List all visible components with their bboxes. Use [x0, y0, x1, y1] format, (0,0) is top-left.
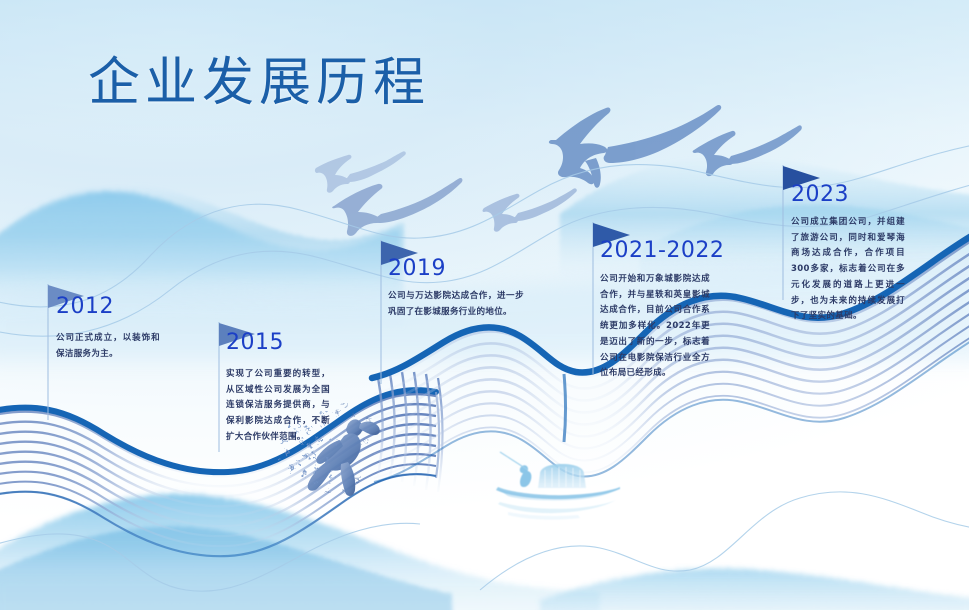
- milestone-desc-2019: 公司与万达影院达成合作，进一步巩固了在影城服务行业的地位。: [388, 289, 524, 320]
- milestone-desc-2021-2022: 公司开始和万象城影院达成合作，并与星轶和英皇影城达成合作，目前公司合作系统更加多…: [600, 272, 710, 382]
- milestone-desc-2015: 实现了公司重要的转型，从区域性公司发展为全国连锁保洁服务提供商，与保利影院达成合…: [226, 367, 330, 446]
- poster-canvas: 企业发展历程 2012 公司正式成立，以装饰和保洁服务为主。 2015 实现了公…: [0, 0, 969, 610]
- milestone-year-2023: 2023: [791, 182, 849, 207]
- milestone-year-2021-2022: 2021-2022: [600, 238, 724, 263]
- milestone-year-2019: 2019: [388, 256, 446, 281]
- milestone-year-2012: 2012: [56, 294, 114, 319]
- milestone-desc-2012: 公司正式成立，以装饰和保洁服务为主。: [56, 331, 160, 362]
- milestone-year-2015: 2015: [226, 330, 284, 355]
- milestone-desc-2023: 公司成立集团公司，并组建了旅游公司，同时和爱琴海商场达成合作，合作项目300多家…: [791, 215, 905, 325]
